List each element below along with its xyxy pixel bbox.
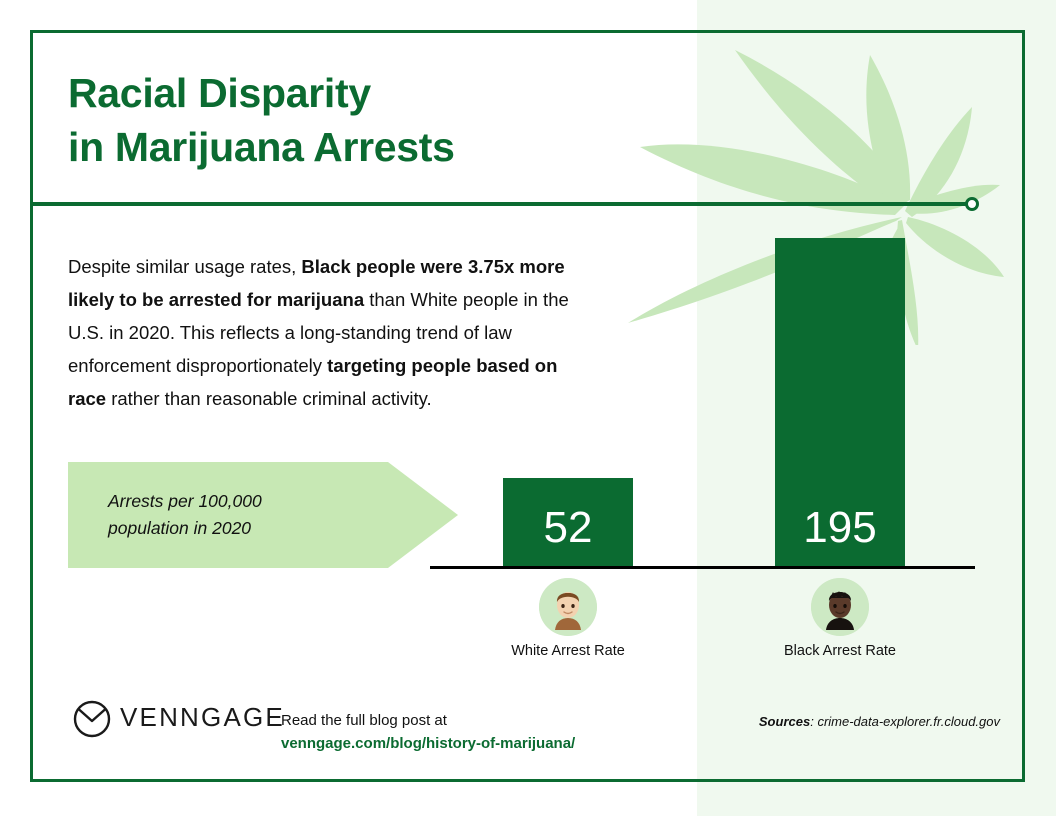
infographic-canvas: Racial Disparity in Marijuana Arrests De… (0, 0, 1056, 816)
black-person-avatar-icon (811, 578, 869, 636)
bar-chart: 52 195 White Arrest Rate (0, 0, 1056, 816)
sources-note: Sources: crime-data-explorer.fr.cloud.go… (700, 714, 1000, 729)
venngage-wordmark: VENNGAGE (120, 702, 285, 733)
chart-baseline (430, 566, 975, 569)
blog-url-link[interactable]: venngage.com/blog/history-of-marijuana/ (281, 732, 611, 755)
white-person-avatar-icon (539, 578, 597, 636)
sources-label: Sources (759, 714, 810, 729)
blog-callout: Read the full blog post at venngage.com/… (281, 709, 611, 755)
sources-value: crime-data-explorer.fr.cloud.gov (817, 714, 1000, 729)
venngage-circle-v-logo-icon (70, 698, 114, 740)
category-label-black: Black Arrest Rate (760, 643, 920, 659)
bar-value-white: 52 (503, 506, 633, 550)
category-label-white: White Arrest Rate (488, 643, 648, 659)
bar-value-black: 195 (775, 506, 905, 550)
blog-prompt: Read the full blog post at (281, 712, 447, 729)
